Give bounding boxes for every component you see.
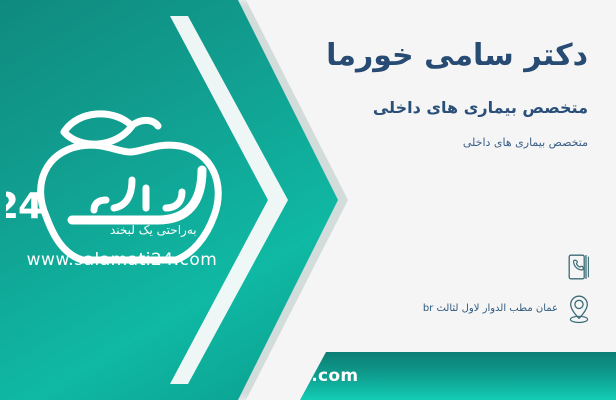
logo-tagline: به‌راحتی یک لبخند	[110, 223, 197, 237]
doctor-specialty-primary: متخصص بیماری های داخلی	[373, 98, 588, 117]
chevron-panel	[0, 0, 340, 400]
phonebook-icon	[564, 250, 594, 284]
contact-address-text: عمان مطب الدوار لاول لثالث br	[423, 303, 558, 315]
doctor-name: دکتر سامی خورما	[326, 38, 588, 73]
contact-row-phone[interactable]	[344, 250, 594, 284]
doctor-profile-card: 24 به‌راحتی یک لبخند www.salamati24.com …	[0, 0, 616, 400]
doctor-specialty-secondary: متخصص بیماری های داخلی	[463, 136, 588, 149]
contact-row-address[interactable]: عمان مطب الدوار لاول لثالث br	[344, 292, 594, 326]
logo-website-url: www.salamati24.com	[22, 250, 222, 270]
contact-block: عمان مطب الدوار لاول لثالث br	[344, 250, 594, 334]
location-pin-icon	[564, 292, 594, 326]
